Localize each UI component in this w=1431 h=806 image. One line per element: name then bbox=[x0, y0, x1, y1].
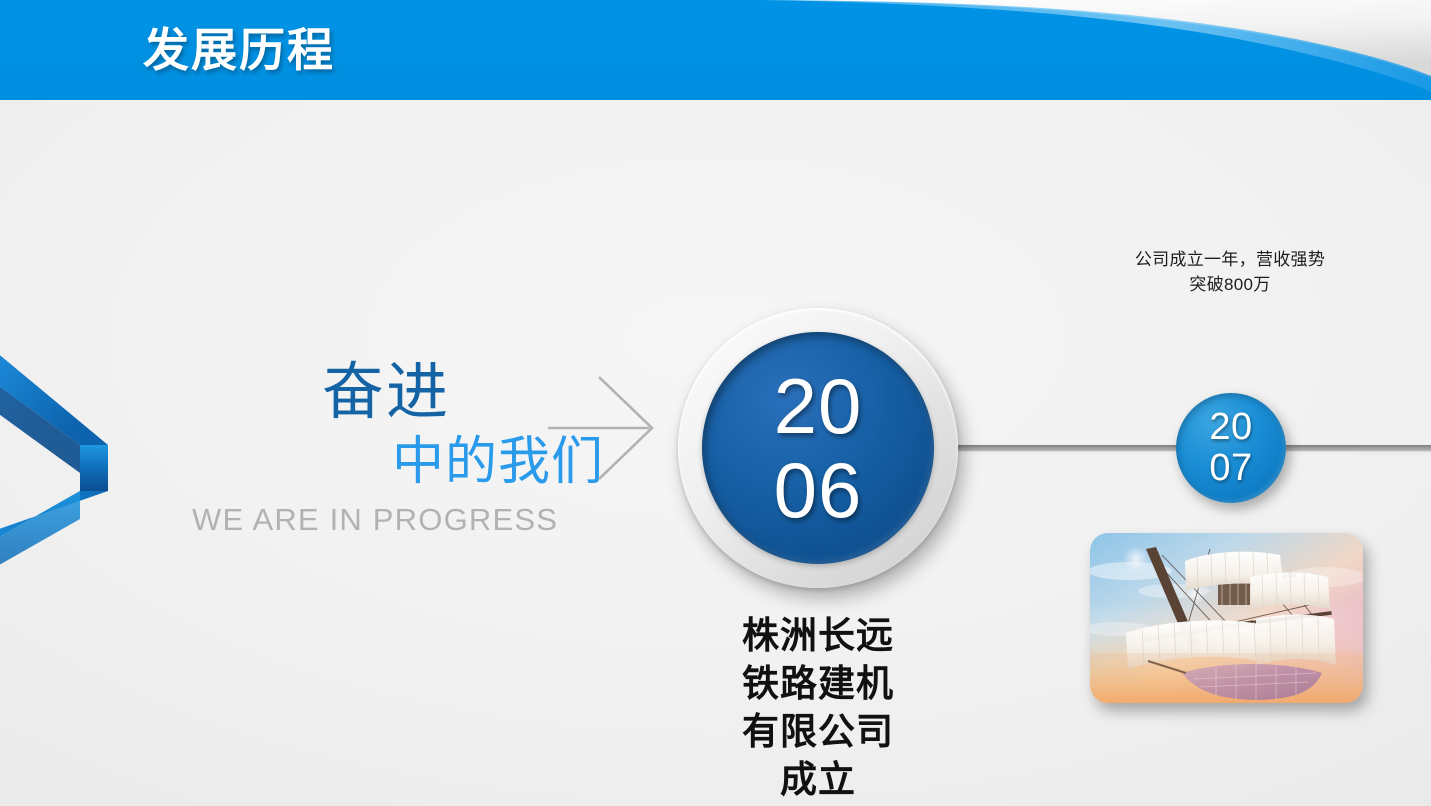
node-2007-note-line-1: 公司成立一年，营收强势 bbox=[1080, 247, 1380, 272]
timeline-node-2006[interactable]: 20 06 bbox=[678, 308, 958, 588]
slide-canvas: 发展历程 bbox=[0, 0, 1431, 806]
node-2006-caption: 株洲长远 铁路建机 有限公司 成立 bbox=[678, 612, 958, 804]
blue-3d-chevron bbox=[0, 295, 190, 615]
sailing-ship-illustration bbox=[1090, 533, 1363, 703]
node-2006-year-bottom: 06 bbox=[774, 448, 863, 532]
gray-right-arrow bbox=[548, 372, 658, 484]
headline-primary: 奋进 bbox=[322, 358, 450, 428]
timeline-node-2007[interactable]: 20 07 bbox=[1176, 393, 1286, 503]
header-band: 发展历程 bbox=[0, 0, 1431, 100]
node-2007-year-top: 20 bbox=[1209, 407, 1252, 448]
node-2006-caption-line-1: 株洲长远 bbox=[678, 612, 958, 660]
node-2006-caption-line-3: 有限公司 bbox=[678, 708, 958, 756]
page-title: 发展历程 bbox=[143, 22, 335, 78]
node-2007-note-line-2: 突破800万 bbox=[1080, 272, 1380, 297]
node-2006-disc: 20 06 bbox=[702, 332, 934, 564]
headline-english: WE ARE IN PROGRESS bbox=[192, 500, 558, 540]
node-2007-year-bottom: 07 bbox=[1209, 448, 1252, 489]
node-2006-caption-line-4: 成立 bbox=[678, 756, 958, 804]
node-2006-year-top: 20 bbox=[774, 364, 863, 448]
sailing-ship-photo[interactable] bbox=[1090, 533, 1363, 703]
node-2007-note: 公司成立一年，营收强势 突破800万 bbox=[1080, 247, 1380, 297]
node-2006-caption-line-2: 铁路建机 bbox=[678, 660, 958, 708]
